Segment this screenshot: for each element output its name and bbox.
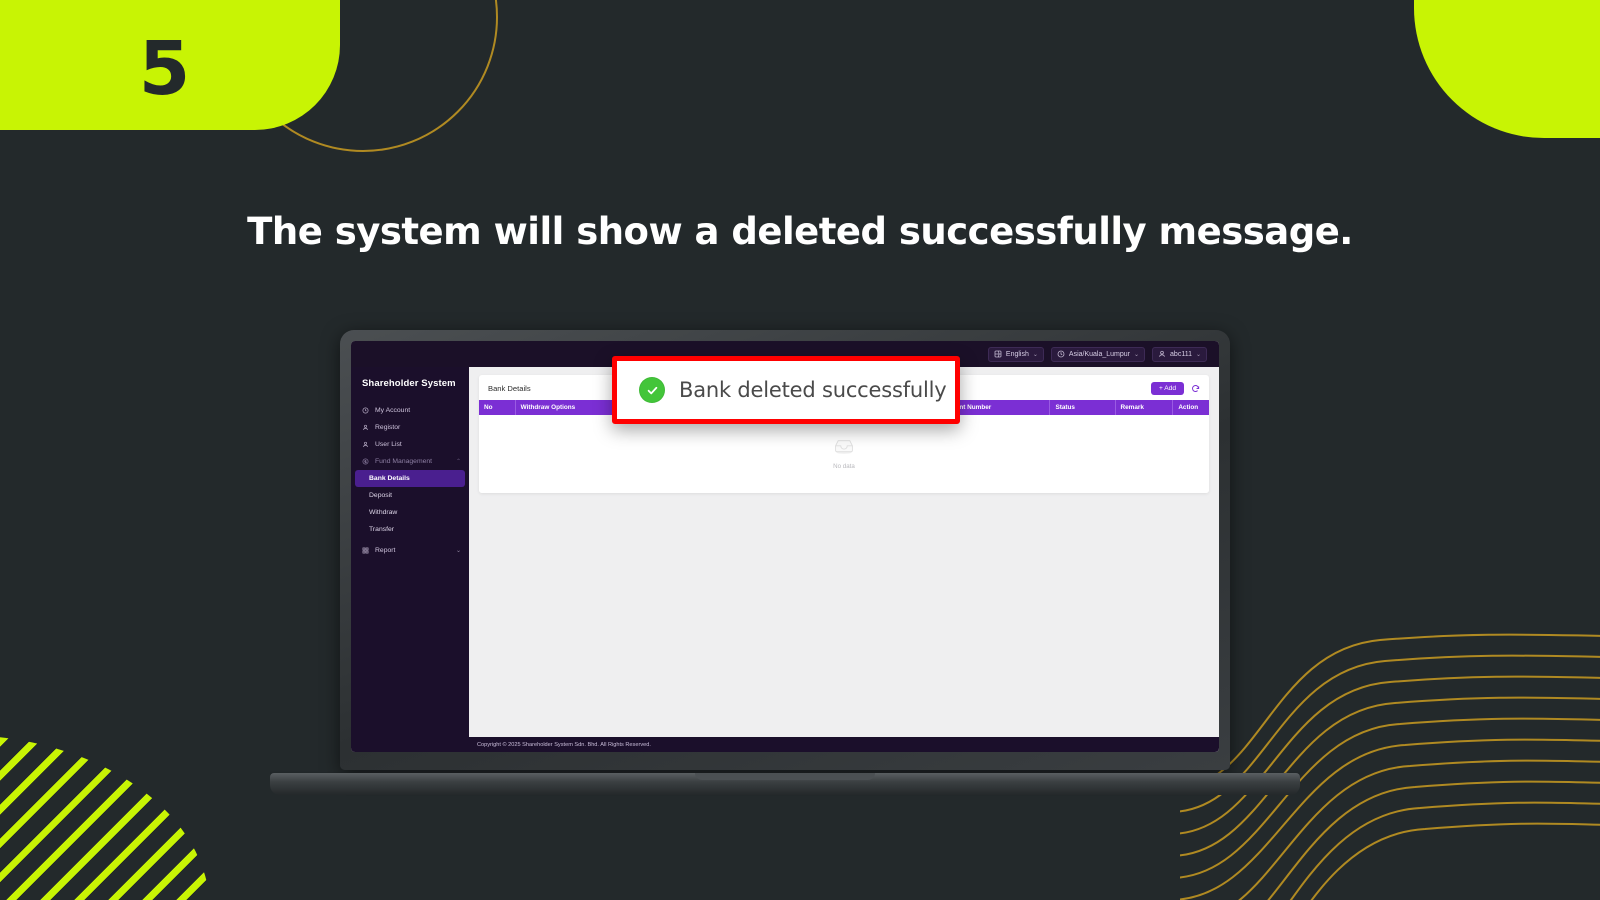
sidebar-item-label: Bank Details — [369, 475, 410, 482]
clock-icon — [362, 407, 369, 414]
slide-number: 5 — [111, 32, 190, 130]
add-button[interactable]: + Add — [1151, 382, 1184, 395]
success-toast: Bank deleted successfully — [612, 356, 960, 424]
sidebar: Shareholder System My Account — [351, 367, 469, 752]
chevron-down-icon: ⌄ — [1134, 351, 1139, 358]
sidebar-item-bank-details[interactable]: Bank Details — [355, 470, 465, 487]
refresh-icon[interactable] — [1191, 384, 1200, 393]
toast-message: Bank deleted successfully — [679, 378, 947, 402]
person-icon — [362, 424, 369, 431]
user-label: abc111 — [1170, 351, 1192, 358]
empty-state-row: No data — [479, 415, 1209, 493]
language-label: English — [1006, 351, 1029, 358]
laptop-base — [270, 773, 1300, 795]
app-body: Shareholder System My Account — [351, 367, 1219, 752]
sidebar-group-label: Report — [375, 547, 395, 554]
sidebar-item-registor[interactable]: Registor — [351, 419, 469, 436]
timezone-label: Asia/Kuala_Lumpur — [1069, 351, 1130, 358]
check-circle-icon — [639, 377, 665, 403]
chevron-down-icon: ⌄ — [1033, 351, 1038, 358]
sidebar-item-withdraw[interactable]: Withdraw — [351, 504, 469, 521]
slide-number-badge: 5 — [0, 0, 340, 130]
column-header-remark[interactable]: Remark — [1115, 400, 1173, 415]
grid-icon — [362, 547, 369, 554]
empty-state-label: No data — [833, 463, 855, 470]
main-content: Bank Details + Add — [469, 367, 1219, 752]
user-icon — [1158, 350, 1166, 358]
table-body: No data — [479, 415, 1209, 493]
sidebar-item-label: Withdraw — [369, 509, 397, 516]
sidebar-item-deposit[interactable]: Deposit — [351, 487, 469, 504]
column-header-status[interactable]: Status — [1050, 400, 1115, 415]
page-title: Bank Details — [488, 384, 531, 393]
user-menu[interactable]: abc111 ⌄ — [1152, 347, 1207, 362]
column-header-action[interactable]: Action — [1173, 400, 1209, 415]
chevron-down-icon: ⌄ — [1196, 351, 1201, 358]
timezone-selector[interactable]: Asia/Kuala_Lumpur ⌄ — [1051, 347, 1145, 362]
sidebar-item-label: Deposit — [369, 492, 392, 499]
column-header-no[interactable]: No — [479, 400, 515, 415]
dollar-icon — [362, 458, 369, 465]
card-actions: + Add — [1151, 382, 1200, 395]
chevron-up-icon: ⌃ — [456, 458, 461, 465]
app-footer: Copyright © 2025 Shareholder System Sdn.… — [469, 737, 1219, 752]
sidebar-item-my-account[interactable]: My Account — [351, 402, 469, 419]
slide-headline: The system will show a deleted successfu… — [0, 210, 1600, 253]
chevron-down-icon: ⌄ — [456, 547, 461, 554]
sidebar-item-label: User List — [375, 441, 402, 448]
sidebar-group-fund-management[interactable]: Fund Management ⌃ — [351, 453, 469, 470]
empty-box-icon — [833, 438, 855, 460]
diagonal-stripes-decoration — [0, 735, 210, 900]
empty-state-cell: No data — [479, 415, 1209, 493]
slide-canvas: 5 The system will show a deleted success… — [0, 0, 1600, 900]
lime-blob-decoration — [1414, 0, 1600, 138]
sidebar-group-label: Fund Management — [375, 458, 432, 465]
language-icon — [994, 350, 1002, 358]
sidebar-item-label: Registor — [375, 424, 400, 431]
person-icon — [362, 441, 369, 448]
sidebar-group-report[interactable]: Report ⌄ — [351, 542, 469, 559]
sidebar-item-transfer[interactable]: Transfer — [351, 521, 469, 538]
copyright-text: Copyright © 2025 Shareholder System Sdn.… — [469, 742, 651, 748]
gold-circle-decoration — [228, 0, 498, 152]
language-selector[interactable]: English ⌄ — [988, 347, 1044, 362]
empty-state: No data — [479, 438, 1209, 470]
sidebar-item-user-list[interactable]: User List — [351, 436, 469, 453]
sidebar-item-label: My Account — [375, 407, 410, 414]
clock-icon — [1057, 350, 1065, 358]
sidebar-item-label: Transfer — [369, 526, 394, 533]
app-brand: Shareholder System — [351, 378, 469, 402]
